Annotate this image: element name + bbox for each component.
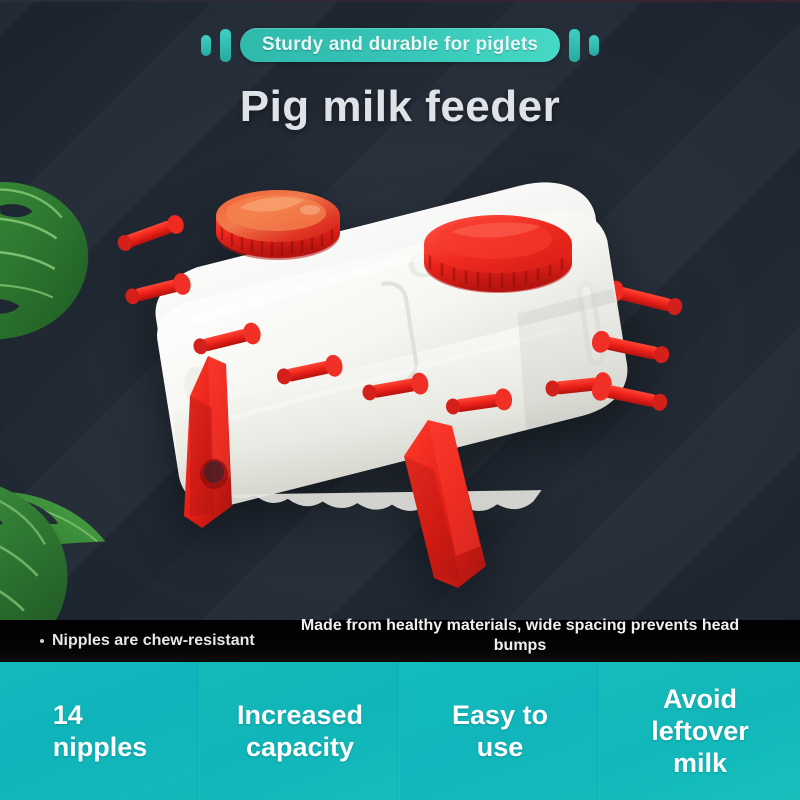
feature-label-capacity: Increased capacity <box>237 699 363 763</box>
caption-strip: Nipples are chew-resistant Made from hea… <box>0 620 800 662</box>
decor-bar-left-small-icon <box>201 35 211 56</box>
bullet-dot-icon <box>40 639 44 643</box>
decor-bar-left-large-icon <box>220 29 231 62</box>
caption-left: Nipples are chew-resistant <box>40 620 255 662</box>
caption-center-line-2: bumps <box>275 636 765 656</box>
feature-cell-nipples: 14 nipples <box>0 662 200 800</box>
feature-cell-leftover-milk: Avoid leftover milk <box>600 662 800 800</box>
feature-bar: 14 nipples Increased capacity Easy to us… <box>0 662 800 800</box>
screw-cap-right <box>424 215 572 293</box>
caption-left-label: Nipples are chew-resistant <box>52 632 255 650</box>
screw-cap-left <box>216 190 340 260</box>
page-title: Pig milk feeder <box>0 82 800 132</box>
tagline-badge: Sturdy and durable for piglets <box>240 28 560 62</box>
product-image <box>100 160 740 610</box>
feature-label-leftover-milk: Avoid leftover milk <box>651 683 749 779</box>
tagline-badge-label: Sturdy and durable for piglets <box>262 34 538 56</box>
caption-center: Made from healthy materials, wide spacin… <box>275 616 765 656</box>
feature-label-ease-of-use: Easy to use <box>452 699 548 763</box>
feature-label-nipples: 14 nipples <box>53 699 148 763</box>
product-marketing-banner: Sturdy and durable for piglets Pig milk … <box>0 0 800 800</box>
decor-bar-right-small-icon <box>589 35 599 56</box>
badge-row: Sturdy and durable for piglets <box>0 22 800 68</box>
caption-center-line-1: Made from healthy materials, wide spacin… <box>275 616 765 636</box>
feature-cell-capacity: Increased capacity <box>200 662 400 800</box>
background-top-accent-line <box>0 0 800 2</box>
feature-cell-ease-of-use: Easy to use <box>400 662 600 800</box>
decor-bar-right-large-icon <box>569 29 580 62</box>
